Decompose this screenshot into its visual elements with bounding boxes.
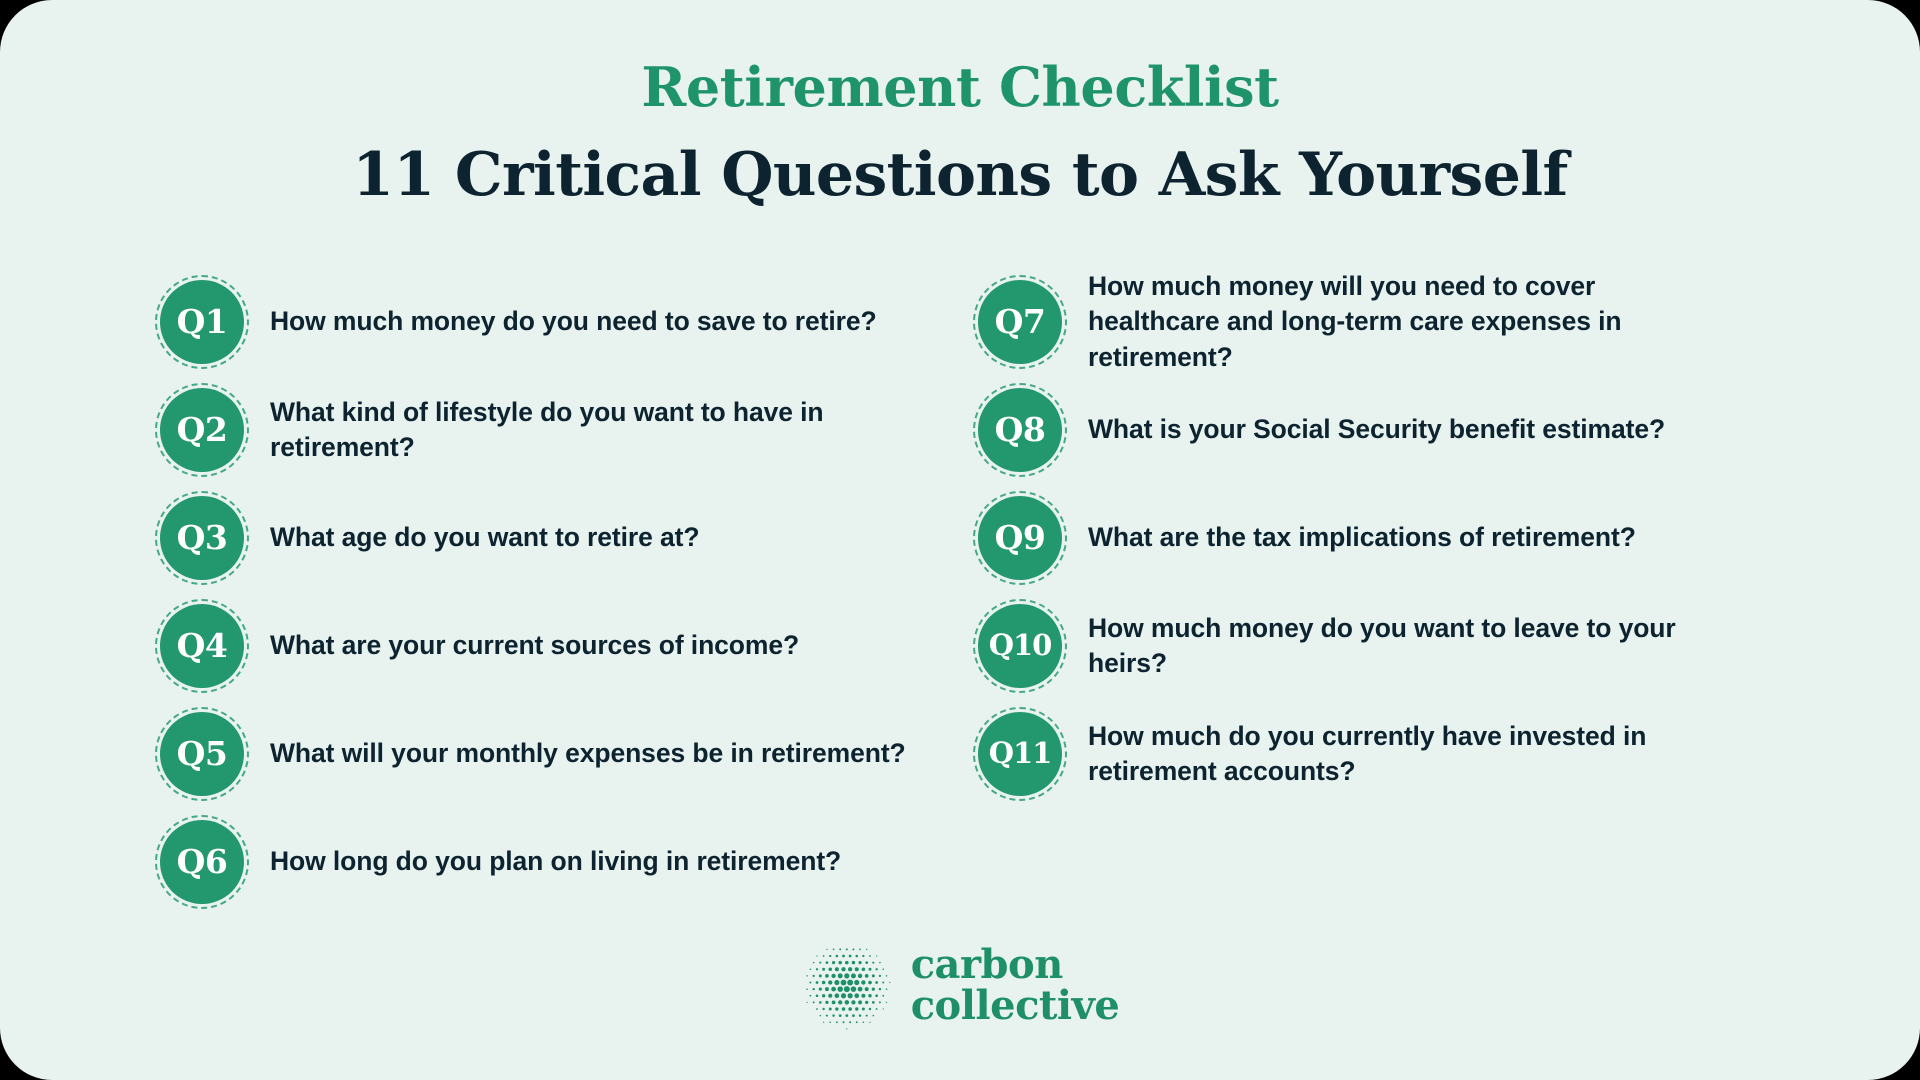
question-text: How much money will you need to cover he… [1088, 269, 1728, 376]
brand-wordmark-line-2: collective [911, 986, 1120, 1027]
question-text: What is your Social Security benefit est… [1088, 412, 1665, 448]
question-text: What kind of lifestyle do you want to ha… [270, 395, 910, 466]
question-text: What will your monthly expenses be in re… [270, 736, 906, 772]
question-badge-wrap: Q7 [978, 280, 1062, 364]
question-row: Q10How much money do you want to leave t… [978, 592, 1850, 700]
question-text: How much money do you want to leave to y… [1088, 611, 1728, 682]
question-badge-wrap: Q9 [978, 496, 1062, 580]
question-badge-wrap: Q5 [160, 712, 244, 796]
question-badge-q9: Q9 [978, 496, 1062, 580]
question-row: Q2What kind of lifestyle do you want to … [160, 376, 920, 484]
question-badge-q3: Q3 [160, 496, 244, 580]
carbon-collective-dot-circle-icon [801, 940, 893, 1032]
question-row: Q3What age do you want to retire at? [160, 484, 920, 592]
question-text: How much do you currently have invested … [1088, 719, 1728, 790]
question-row: Q4What are your current sources of incom… [160, 592, 920, 700]
header-block: Retirement Checklist 11 Critical Questio… [0, 0, 1920, 208]
question-row: Q5What will your monthly expenses be in … [160, 700, 920, 808]
question-row: Q1How much money do you need to save to … [160, 268, 920, 376]
question-row: Q6How long do you plan on living in reti… [160, 808, 920, 916]
question-text: What age do you want to retire at? [270, 520, 699, 556]
eyebrow-title: Retirement Checklist [0, 58, 1920, 116]
question-row: Q11How much do you currently have invest… [978, 700, 1850, 808]
question-badge-wrap: Q3 [160, 496, 244, 580]
question-badge-q2: Q2 [160, 388, 244, 472]
questions-column-left: Q1How much money do you need to save to … [0, 268, 960, 916]
question-text: What are the tax implications of retirem… [1088, 520, 1636, 556]
questions-grid: Q1How much money do you need to save to … [0, 268, 1920, 916]
brand-wordmark: carbon collective [911, 945, 1120, 1027]
question-badge-q6: Q6 [160, 820, 244, 904]
question-badge-wrap: Q10 [978, 604, 1062, 688]
question-badge-wrap: Q1 [160, 280, 244, 364]
question-badge-wrap: Q2 [160, 388, 244, 472]
question-row: Q7How much money will you need to cover … [978, 268, 1850, 376]
page-title: 11 Critical Questions to Ask Yourself [0, 142, 1920, 208]
question-badge-wrap: Q6 [160, 820, 244, 904]
question-text: How long do you plan on living in retire… [270, 844, 841, 880]
questions-column-right: Q7How much money will you need to cover … [960, 268, 1920, 916]
brand-wordmark-line-1: carbon [911, 945, 1120, 986]
question-badge-wrap: Q11 [978, 712, 1062, 796]
question-text: How much money do you need to save to re… [270, 304, 877, 340]
question-badge-q8: Q8 [978, 388, 1062, 472]
question-badge-q5: Q5 [160, 712, 244, 796]
question-badge-wrap: Q4 [160, 604, 244, 688]
brand-logo: carbon collective [0, 940, 1920, 1032]
question-badge-q7: Q7 [978, 280, 1062, 364]
question-text: What are your current sources of income? [270, 628, 799, 664]
question-row: Q8What is your Social Security benefit e… [978, 376, 1850, 484]
question-badge-wrap: Q8 [978, 388, 1062, 472]
question-badge-q11: Q11 [978, 712, 1062, 796]
question-badge-q4: Q4 [160, 604, 244, 688]
question-row: Q9What are the tax implications of retir… [978, 484, 1850, 592]
infographic-card: Retirement Checklist 11 Critical Questio… [0, 0, 1920, 1080]
question-badge-q10: Q10 [978, 604, 1062, 688]
question-badge-q1: Q1 [160, 280, 244, 364]
